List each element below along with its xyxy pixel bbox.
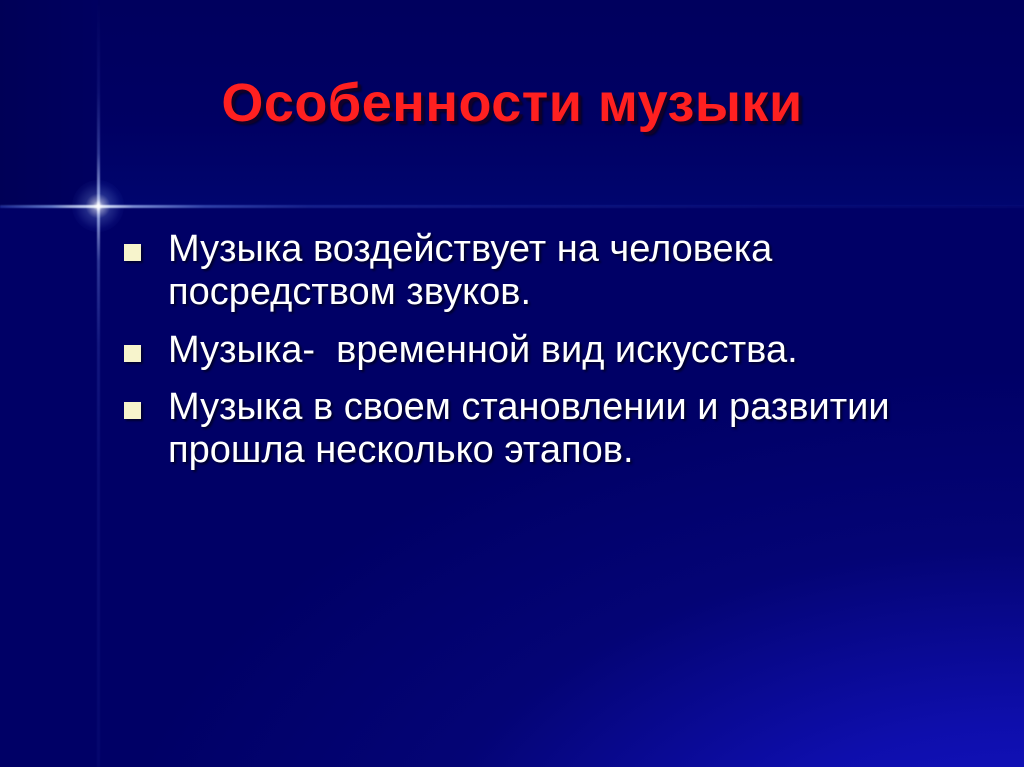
list-item: Музыка воздействует на человека посредст… xyxy=(124,228,964,315)
presentation-slide: Особенности музыки Музыка воздействует н… xyxy=(0,0,1024,767)
list-item-text: Музыка воздействует на человека посредст… xyxy=(168,228,964,315)
list-item: Музыка- временной вид искусства. xyxy=(124,329,964,372)
square-bullet-icon xyxy=(124,345,141,362)
star-horizontal-ray xyxy=(0,205,1024,208)
list-item-text: Музыка- временной вид искусства. xyxy=(168,329,964,372)
square-bullet-icon xyxy=(124,244,141,261)
slide-body: Музыка воздействует на человека посредст… xyxy=(124,228,964,487)
list-item-text: Музыка в своем становлении и развитии пр… xyxy=(168,386,964,473)
square-bullet-icon xyxy=(124,402,141,419)
star-core-glow xyxy=(72,180,124,232)
list-item: Музыка в своем становлении и развитии пр… xyxy=(124,386,964,473)
slide-title: Особенности музыки xyxy=(0,76,1024,130)
